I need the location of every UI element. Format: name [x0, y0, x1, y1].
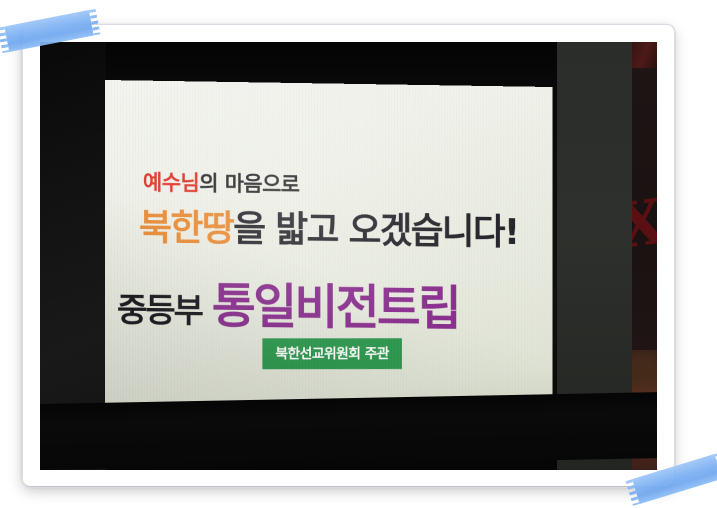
photograph: X 예수님의 마음으로 북한땅을 밟고 오겠습니다! 중등부 통일비전트립 북한…: [40, 42, 657, 470]
slide-line-3: 중등부 통일비전트립: [117, 265, 459, 338]
slide-line-3-prefix: 중등부: [117, 283, 202, 332]
slide-line-2-highlight: 북한땅: [139, 207, 233, 249]
projection-screen: 예수님의 마음으로 북한땅을 밟고 오겠습니다! 중등부 통일비전트립 북한선교…: [105, 80, 552, 414]
banner-red-header: [632, 42, 657, 68]
slide-line-1-highlight: 예수님: [143, 171, 199, 196]
slide-organizer-badge: 북한선교위원회 주관: [262, 338, 401, 369]
slide-line-2-rest: 을 밟고 오겠습니다!: [233, 209, 518, 253]
slide-line-1: 예수님의 마음으로: [143, 167, 300, 199]
photo-stage: X 예수님의 마음으로 북한땅을 밟고 오겠습니다! 중등부 통일비전트립 북한…: [0, 0, 717, 508]
slide-line-1-rest: 의 마음으로: [199, 171, 299, 196]
foreground-dark-band: [40, 392, 657, 470]
banner-calligraphy-mark: X: [632, 188, 657, 272]
slide-content: 예수님의 마음으로 북한땅을 밟고 오겠습니다! 중등부 통일비전트립 북한선교…: [105, 80, 552, 414]
slide-line-3-title: 통일비전트립: [212, 266, 459, 338]
slide-line-2: 북한땅을 밟고 오겠습니다!: [139, 198, 518, 254]
